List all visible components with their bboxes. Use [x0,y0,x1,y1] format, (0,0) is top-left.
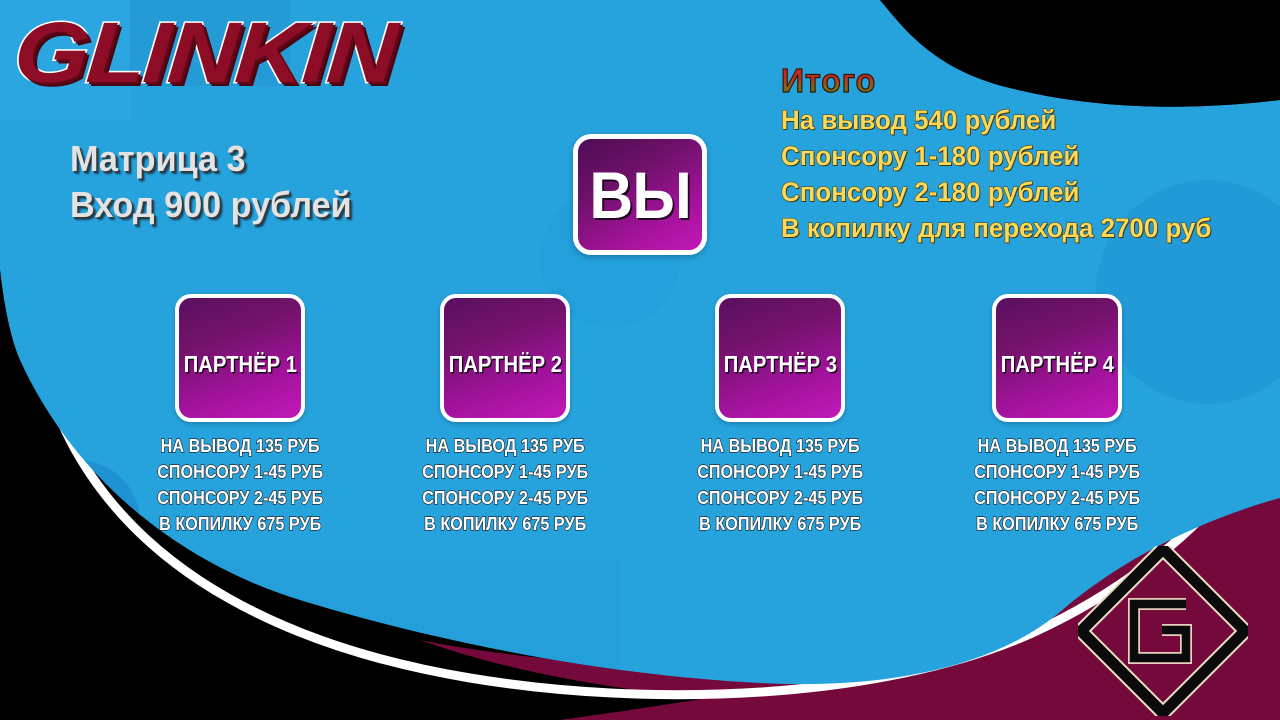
partner-card-4[interactable]: ПАРТНЁР 4 [992,294,1122,422]
partner-2-sponsor-1: СПОНСОРУ 1-45 РУБ [422,460,588,486]
slide-canvas: GLINKIN Матрица 3 Вход 900 рублей ВЫ Ито… [0,0,1280,720]
partner-details-3: НА ВЫВОД 135 РУБ СПОНСОРУ 1-45 РУБ СПОНС… [688,434,872,538]
partner-2-piggybank: В КОПИЛКУ 675 РУБ [422,512,588,538]
partner-1-sponsor-2: СПОНСОРУ 2-45 РУБ [157,486,323,512]
partner-4-withdraw: НА ВЫВОД 135 РУБ [974,434,1140,460]
totals-line-withdraw: На вывод 540 рублей [781,106,1232,135]
partner-column-3: ПАРТНЁР 3 НА ВЫВОД 135 РУБ СПОНСОРУ 1-45… [675,294,885,538]
partner-column-1: ПАРТНЁР 1 НА ВЫВОД 135 РУБ СПОНСОРУ 1-45… [135,294,345,538]
partner-details-4: НА ВЫВОД 135 РУБ СПОНСОРУ 1-45 РУБ СПОНС… [965,434,1149,538]
headline-matrix: Матрица 3 [70,136,352,182]
partner-details-1: НА ВЫВОД 135 РУБ СПОНСОРУ 1-45 РУБ СПОНС… [148,434,332,538]
headline-entry-fee: Вход 900 рублей [70,182,352,228]
headline-block: Матрица 3 Вход 900 рублей [70,136,352,228]
totals-line-sponsor-2: Спонсору 2-180 рублей [781,178,1232,207]
you-node-label: ВЫ [589,162,690,228]
diamond-g-monogram-icon [1078,546,1248,716]
partner-4-piggybank: В КОПИЛКУ 675 РУБ [974,512,1140,538]
totals-line-sponsor-1: Спонсору 1-180 рублей [781,142,1232,171]
partner-4-sponsor-2: СПОНСОРУ 2-45 РУБ [974,486,1140,512]
partner-column-4: ПАРТНЁР 4 НА ВЫВОД 135 РУБ СПОНСОРУ 1-45… [952,294,1162,538]
partner-label-2: ПАРТНЁР 2 [448,351,561,378]
partner-3-withdraw: НА ВЫВОД 135 РУБ [697,434,863,460]
you-node-card[interactable]: ВЫ [573,134,707,255]
totals-title: Итого [781,64,876,99]
partner-2-sponsor-2: СПОНСОРУ 2-45 РУБ [422,486,588,512]
totals-panel: Итого На вывод 540 рублей Спонсору 1-180… [781,64,1251,243]
partner-label-3: ПАРТНЁР 3 [723,351,836,378]
partner-1-sponsor-1: СПОНСОРУ 1-45 РУБ [157,460,323,486]
partner-card-2[interactable]: ПАРТНЁР 2 [440,294,570,422]
partner-3-sponsor-1: СПОНСОРУ 1-45 РУБ [697,460,863,486]
partner-card-3[interactable]: ПАРТНЁР 3 [715,294,845,422]
partner-1-piggybank: В КОПИЛКУ 675 РУБ [157,512,323,538]
partner-details-2: НА ВЫВОД 135 РУБ СПОНСОРУ 1-45 РУБ СПОНС… [413,434,597,538]
partner-label-1: ПАРТНЁР 1 [183,351,296,378]
partner-1-withdraw: НА ВЫВОД 135 РУБ [157,434,323,460]
partner-2-withdraw: НА ВЫВОД 135 РУБ [422,434,588,460]
partner-card-1[interactable]: ПАРТНЁР 1 [175,294,305,422]
partner-3-piggybank: В КОПИЛКУ 675 РУБ [697,512,863,538]
partner-4-sponsor-1: СПОНСОРУ 1-45 РУБ [974,460,1140,486]
monogram-letter-g [1134,604,1186,658]
partner-label-4: ПАРТНЁР 4 [1000,351,1113,378]
brand-wordmark: GLINKIN [11,8,398,98]
partner-column-2: ПАРТНЁР 2 НА ВЫВОД 135 РУБ СПОНСОРУ 1-45… [400,294,610,538]
partner-3-sponsor-2: СПОНСОРУ 2-45 РУБ [697,486,863,512]
totals-line-piggybank: В копилку для перехода 2700 руб [781,214,1232,243]
